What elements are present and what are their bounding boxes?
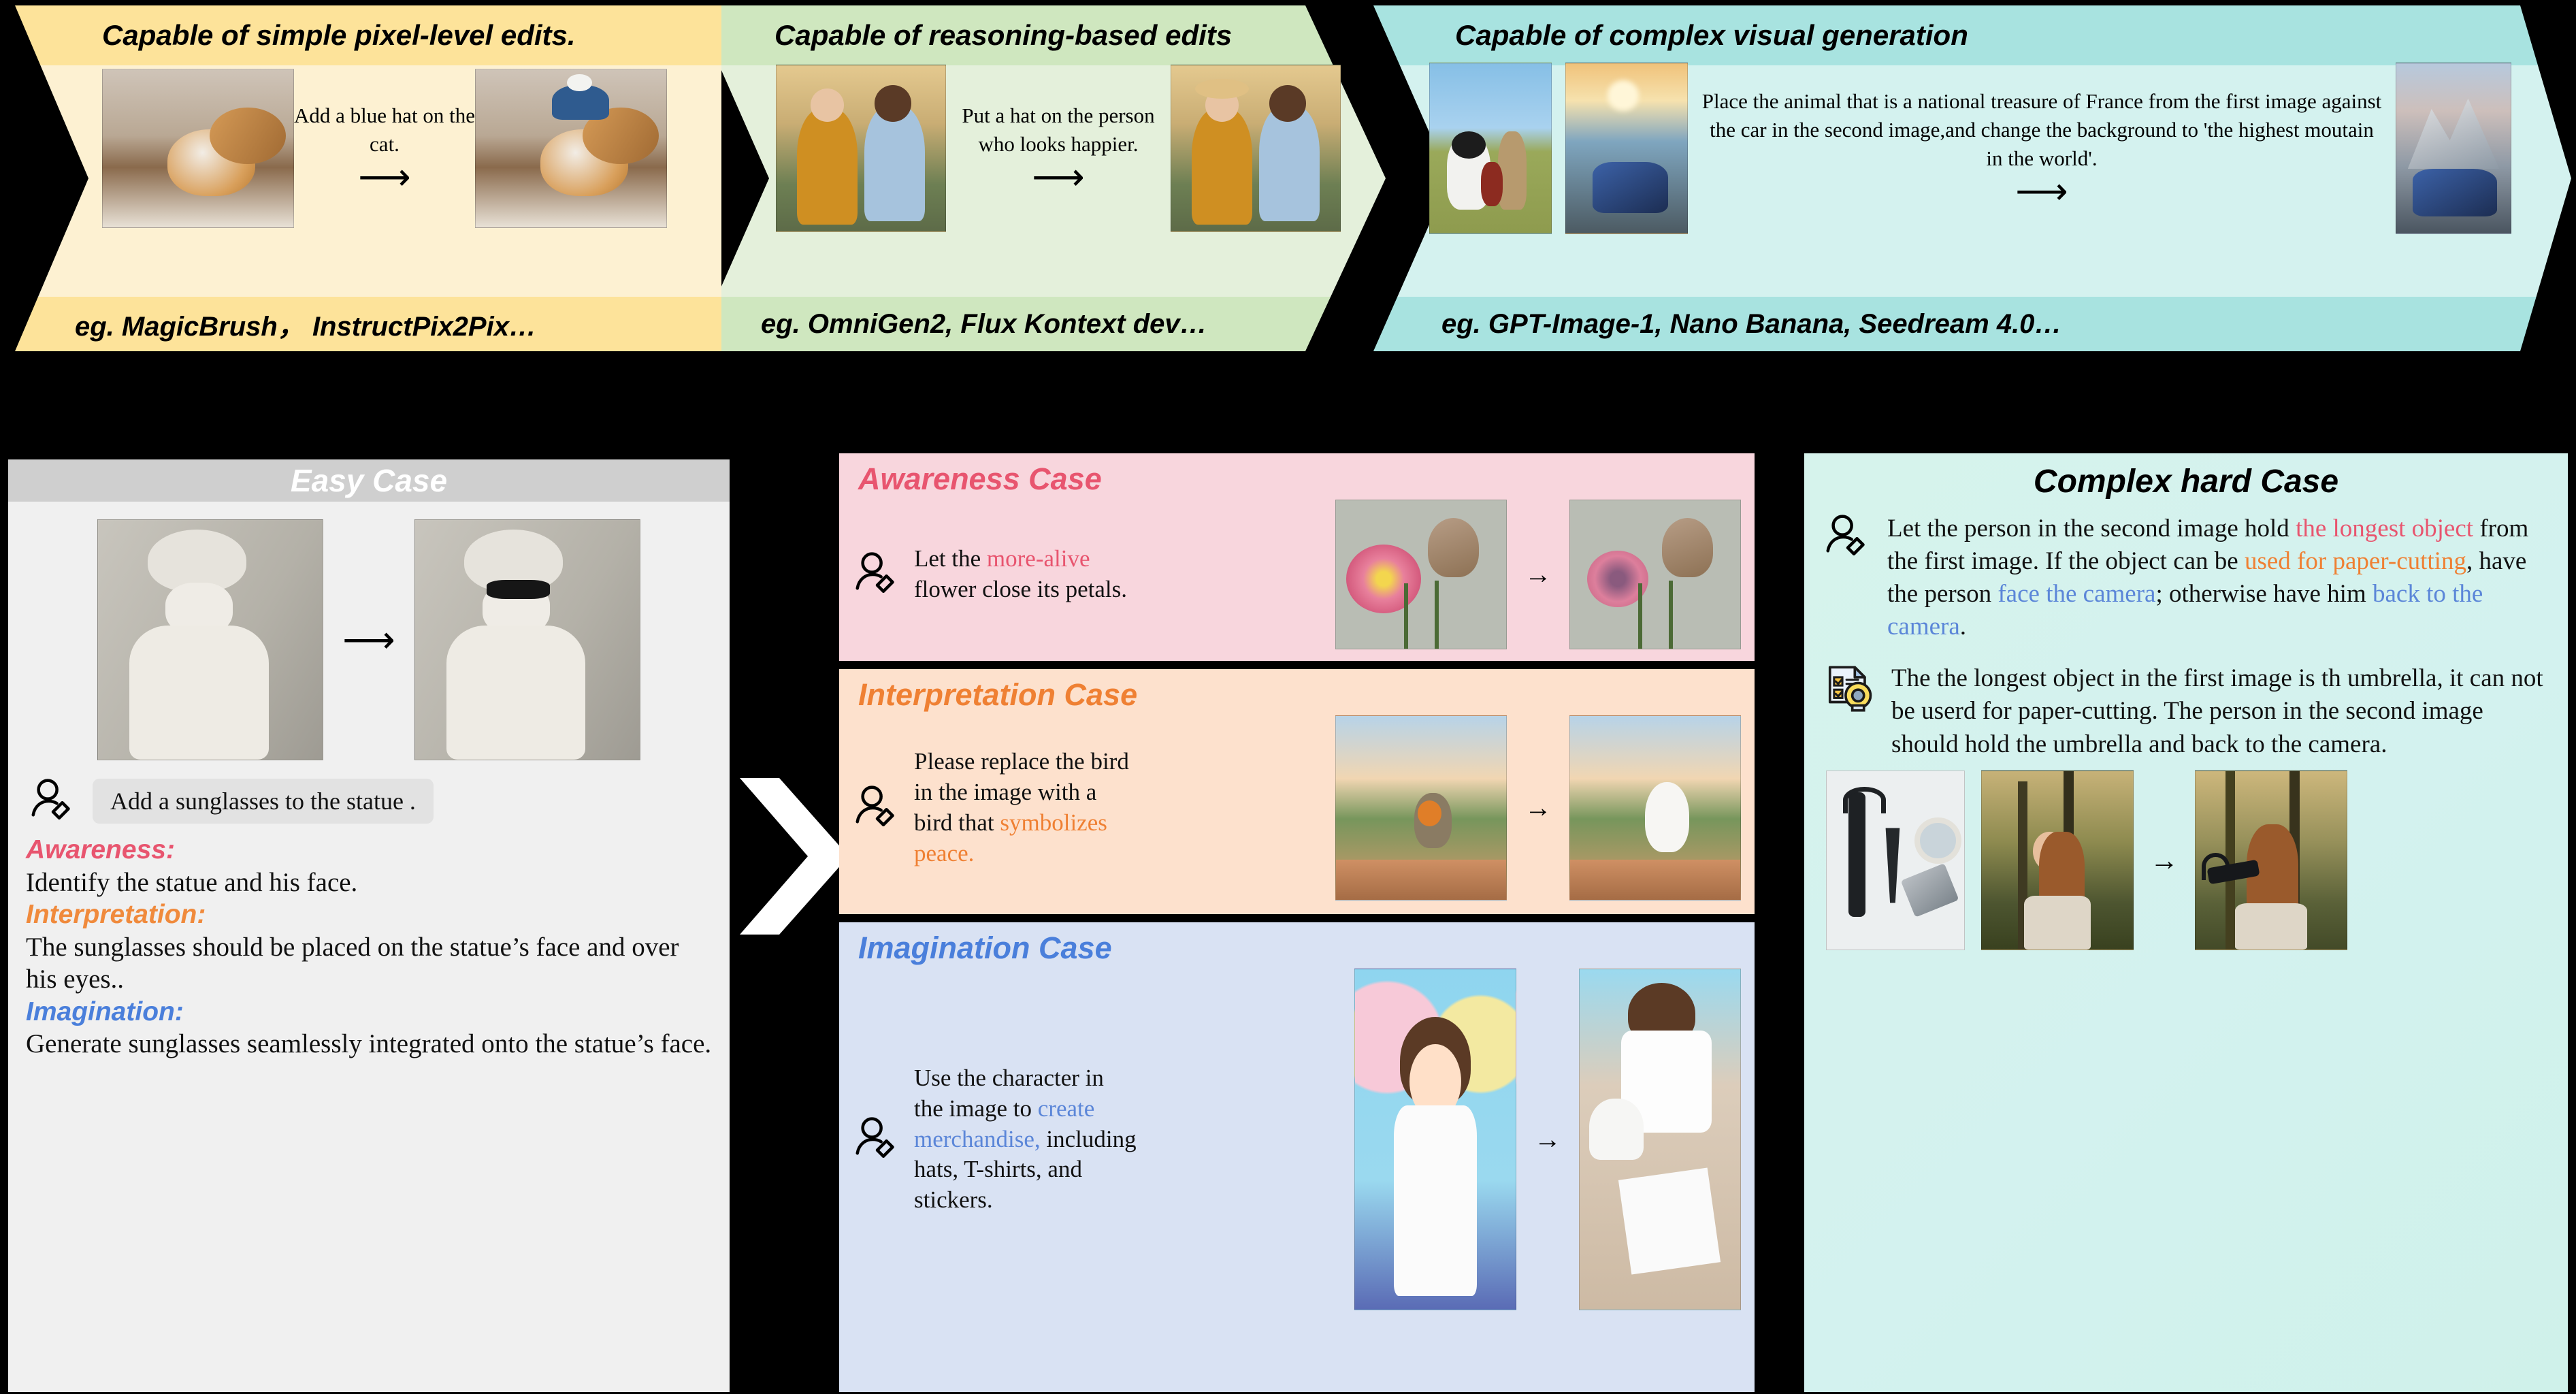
- image-women-before: [776, 65, 946, 232]
- image-animals: [1429, 63, 1552, 234]
- complex-case-image-row: →: [1804, 761, 2568, 950]
- interpretation-case-prompt: Please replace the bird in the image wit…: [914, 747, 1139, 869]
- case-comparison-area: Easy Case ⟶ Add a sunglasses to th: [0, 356, 2576, 1394]
- reasoning-text-interpretation: The sunglasses should be placed on the s…: [26, 933, 679, 994]
- arrow-icon: →: [1534, 1126, 1561, 1153]
- image-car-mountain-result: [2396, 63, 2511, 234]
- image-sportscar-road: [1565, 63, 1688, 234]
- flow-arrow-chevron: [740, 778, 849, 935]
- interpretation-case-title: Interpretation Case: [839, 669, 1755, 713]
- image-flower-after: [1569, 500, 1741, 649]
- user-edit-icon: [853, 550, 902, 599]
- banner-footer-3: eg. GPT-Image-1, Nano Banana, Seedream 4…: [1373, 297, 2571, 351]
- image-statue-before: [97, 519, 323, 760]
- highlight-face-the-camera: face the camera: [1998, 580, 2155, 608]
- reasoning-label-interpretation: Interpretation:: [26, 898, 712, 931]
- easy-case-prompt: Add a sunglasses to the statue .: [93, 779, 434, 824]
- awareness-case-image-pair: →: [1335, 500, 1741, 649]
- reasoning-label-awareness: Awareness:: [26, 834, 712, 866]
- complex-case-prompt: Let the person in the second image hold …: [1887, 513, 2545, 643]
- image-woman-forest-before: [1981, 771, 2134, 950]
- arrow-icon: →: [1525, 561, 1552, 588]
- arrow-icon: →: [1525, 794, 1552, 822]
- image-flower-before: [1335, 500, 1507, 649]
- easy-case-title: Easy Case: [291, 462, 447, 499]
- banner-instruction-1: Add a blue hat on the cat.: [294, 101, 475, 159]
- user-edit-icon: [29, 777, 78, 826]
- reasoning-text-awareness: Identify the statue and his face.: [26, 868, 357, 897]
- image-dove-after: [1569, 715, 1741, 901]
- awareness-case-title: Awareness Case: [839, 453, 1755, 497]
- banner-footer-1: eg. MagicBrush， InstructPix2Pix…: [0, 297, 721, 351]
- image-cat-before: [102, 69, 294, 228]
- complex-case-reasoning-block: The the longest object in the first imag…: [1804, 643, 2568, 760]
- banner-instruction-3: Place the animal that is a national trea…: [1701, 87, 2382, 173]
- easy-case-title-bar: Easy Case: [8, 459, 730, 502]
- complex-case-title: Complex hard Case: [1804, 453, 2568, 500]
- image-anime-character-before: [1354, 969, 1516, 1310]
- reasoning-label-imagination: Imagination:: [26, 996, 712, 1028]
- checklist-lightbulb-gear-icon: [1823, 662, 1876, 715]
- image-objects-flatlay: [1826, 771, 1965, 950]
- user-edit-icon: [1823, 513, 1872, 562]
- interpretation-case-image-pair: →: [1335, 715, 1741, 901]
- banner-demo-1: Add a blue hat on the cat. ⟶: [102, 63, 667, 234]
- capability-banner: Capable of complex visual generation eg.…: [0, 0, 2576, 356]
- complex-case-reasoning-text: The the longest object in the first imag…: [1891, 662, 2545, 760]
- banner-demo-2: Put a hat on the person who looks happie…: [776, 63, 1341, 234]
- easy-case-panel: Easy Case ⟶ Add a sunglasses to th: [8, 459, 730, 1392]
- easy-case-image-pair: ⟶: [8, 502, 730, 766]
- banner-header-1: Capable of simple pixel-level edits.: [0, 5, 721, 65]
- banner-header-3: Capable of complex visual generation: [1373, 5, 2571, 65]
- imagination-case-title: Imagination Case: [839, 922, 1755, 966]
- imagination-case-card: Imagination Case Use the character in th…: [839, 922, 1755, 1392]
- banner-demo-3: Place the animal that is a national trea…: [1429, 63, 2511, 234]
- highlight-used-for-paper-cutting: used for paper-cutting: [2245, 547, 2466, 575]
- user-edit-icon: [853, 783, 902, 832]
- easy-case-prompt-row: Add a sunglasses to the statue .: [8, 766, 730, 830]
- complex-case-prompt-block: Let the person in the second image hold …: [1804, 500, 2568, 643]
- image-merchandise-after: [1579, 969, 1741, 1310]
- arrow-icon: ⟶: [946, 159, 1171, 195]
- banner-footer-2: eg. OmniGen2, Flux Kontext dev…: [693, 297, 1386, 351]
- complex-hard-case-panel: Complex hard Case Let the person in the …: [1804, 453, 2568, 1392]
- user-edit-icon: [853, 1115, 902, 1164]
- highlight-more-alive: more-alive: [987, 545, 1090, 572]
- image-robin-before: [1335, 715, 1507, 901]
- awareness-case-prompt: Let the more-alive flower close its peta…: [914, 544, 1139, 605]
- banner-instruction-2: Put a hat on the person who looks happie…: [946, 101, 1171, 159]
- image-statue-after: [414, 519, 640, 760]
- arrow-icon: ⟶: [294, 159, 475, 195]
- image-cat-after: [475, 69, 667, 228]
- arrow-icon: ⟶: [1701, 173, 2382, 210]
- arrow-icon: ⟶: [342, 621, 395, 658]
- easy-case-reasoning: Awareness: Identify the statue and his f…: [8, 830, 730, 1060]
- reasoning-text-imagination: Generate sunglasses seamlessly integrate…: [26, 1029, 711, 1058]
- awareness-case-card: Awareness Case Let the more-alive flower…: [839, 453, 1755, 661]
- imagination-case-image-pair: →: [1354, 969, 1741, 1310]
- highlight-longest-object: the longest object: [2296, 515, 2473, 542]
- interpretation-case-card: Interpretation Case Please replace the b…: [839, 669, 1755, 914]
- imagination-case-prompt: Use the character in the image to create…: [914, 1063, 1139, 1216]
- image-women-after: [1171, 65, 1341, 232]
- image-woman-umbrella-result: [2195, 771, 2347, 950]
- arrow-icon: →: [2150, 846, 2179, 875]
- banner-header-2: Capable of reasoning-based edits: [693, 5, 1386, 65]
